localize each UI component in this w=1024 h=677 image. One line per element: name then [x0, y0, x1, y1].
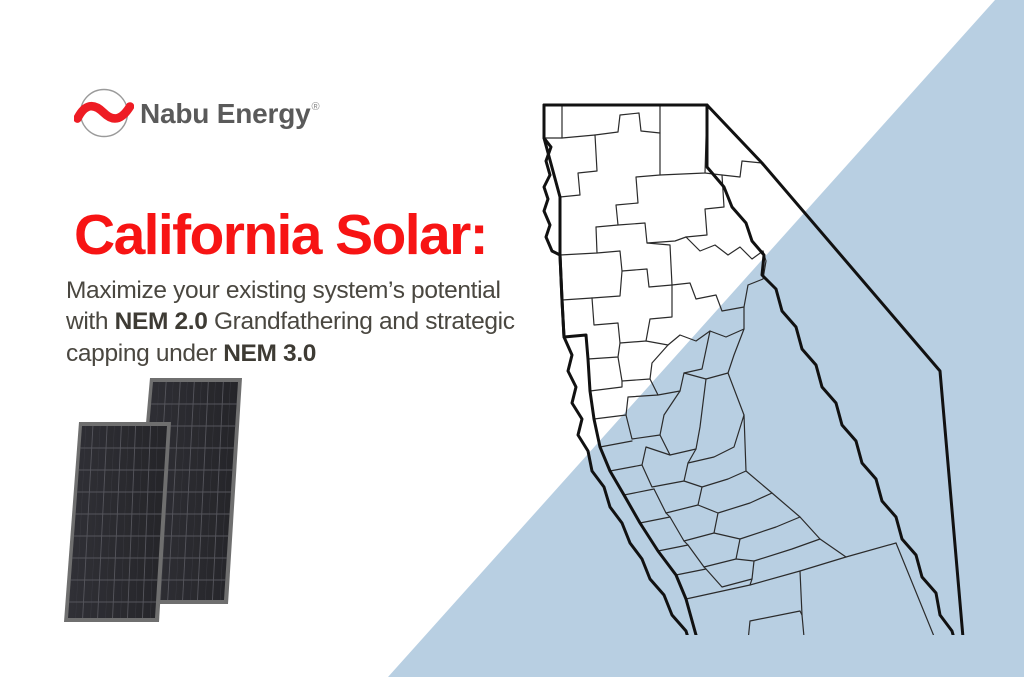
- page-title: California Solar:: [74, 206, 487, 266]
- promo-banner: Nabu Energy® California Solar: Maximize …: [0, 0, 1024, 677]
- page-subtitle: Maximize your existing system’s potentia…: [66, 275, 536, 371]
- nabu-wave-circle-icon: [74, 83, 134, 143]
- california-map-svg: [500, 75, 1010, 635]
- brand-name-text: Nabu Energy: [140, 98, 311, 129]
- brand-wordmark: Nabu Energy®: [140, 100, 318, 128]
- logo-red-wave: [78, 106, 131, 118]
- front-panel-glass: [68, 426, 167, 618]
- solar-panel-pair-illustration: [58, 368, 308, 630]
- state-outline: [544, 105, 974, 635]
- subtitle-emphasis: NEM 2.0: [115, 308, 208, 335]
- brand-logo[interactable]: Nabu Energy®: [74, 83, 318, 143]
- subtitle-emphasis: NEM 3.0: [223, 340, 316, 367]
- state-border-detail: [544, 105, 976, 635]
- county-boundaries: [544, 105, 976, 635]
- california-county-map: [500, 75, 1010, 635]
- registered-trademark-icon: ®: [312, 101, 320, 113]
